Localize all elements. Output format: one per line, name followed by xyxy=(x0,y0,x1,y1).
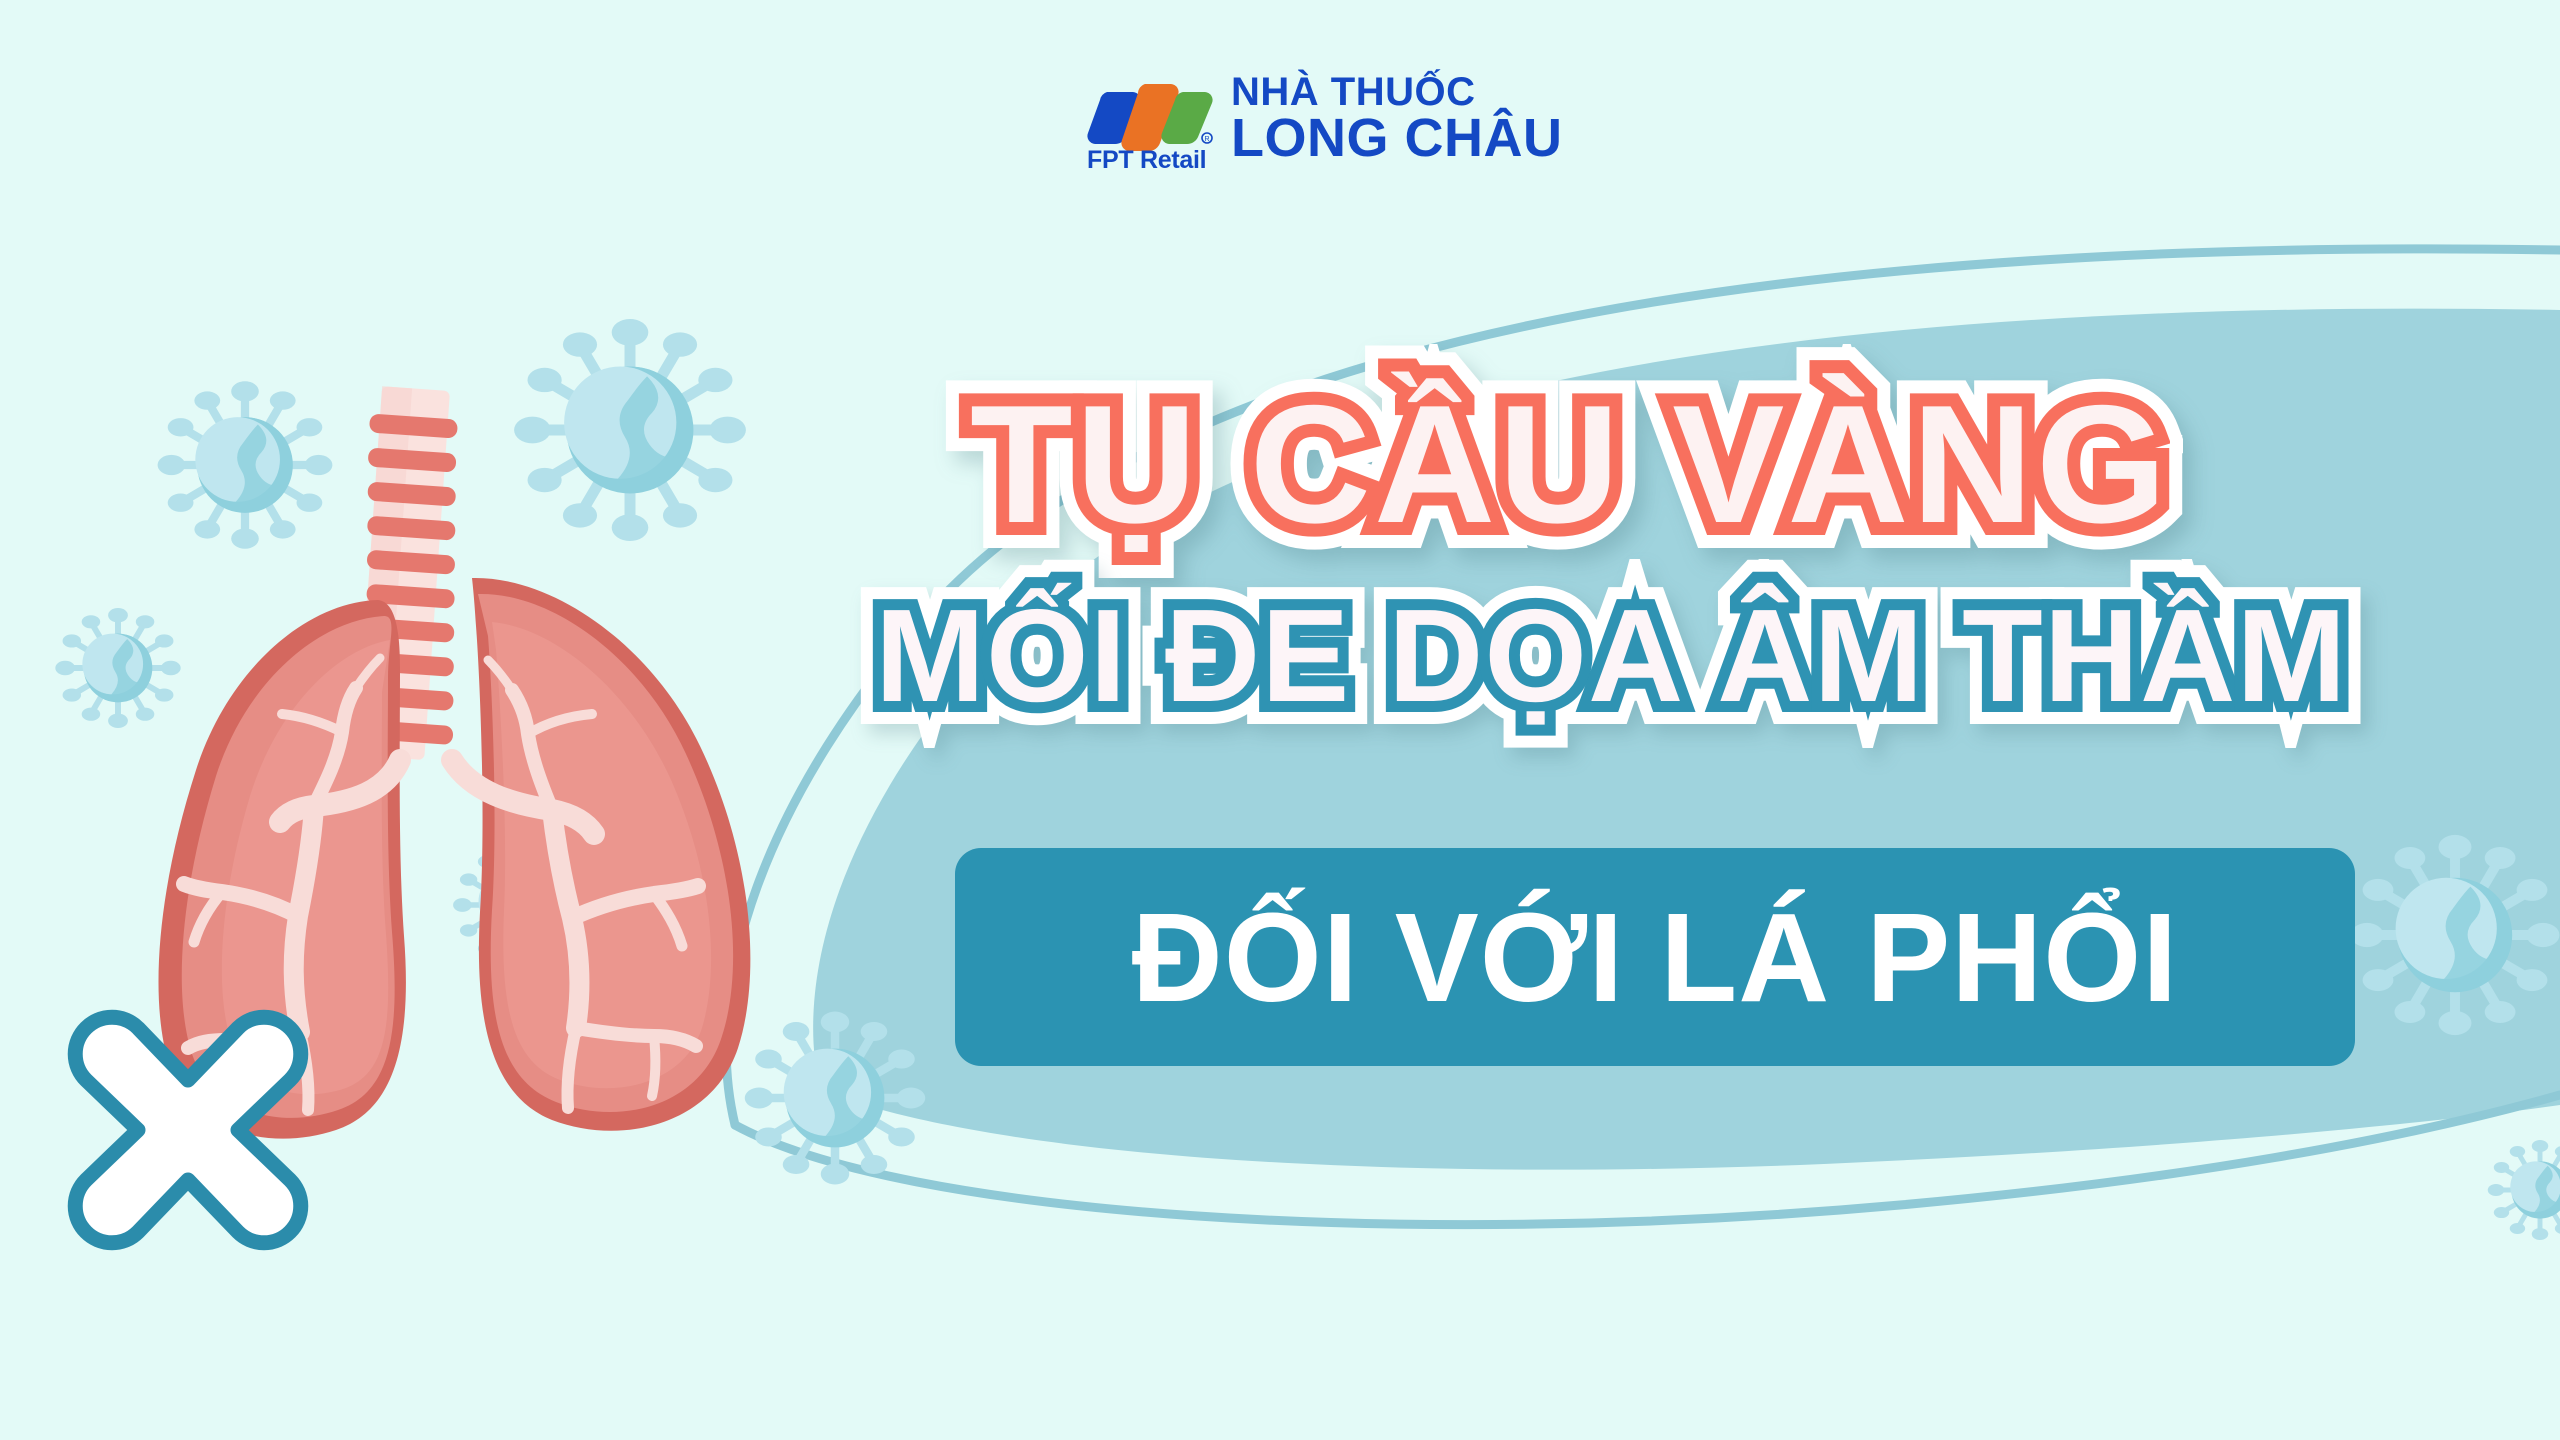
poster-canvas: R FPT Retail NHÀ THUỐC LONG CHÂU TỤ CẦU … xyxy=(0,0,2560,1440)
logo-sub-label: FPT Retail xyxy=(1087,146,1206,175)
headline-line-3: ĐỐI VỚI LÁ PHỔI xyxy=(955,848,2355,1066)
x-cross-icon xyxy=(58,1000,318,1260)
brand-line-1: NHÀ THUỐC xyxy=(1231,73,1562,112)
brand-logo[interactable]: R FPT Retail NHÀ THUỐC LONG CHÂU xyxy=(1085,68,1562,176)
fpt-retail-logo-mark: R FPT Retail xyxy=(1085,68,1213,176)
headline-line-1: TỤ CẦU VÀNG xyxy=(970,380,2170,548)
headline-block: TỤ CẦU VÀNG TỤ CẦU VÀNG MỐI ĐE DỌA ÂM TH… xyxy=(900,380,2460,1080)
virus-particle xyxy=(2488,1140,2560,1240)
svg-text:R: R xyxy=(1204,136,1209,143)
headline-line-2: MỐI ĐE DỌA ÂM THẦM xyxy=(875,590,2347,722)
brand-line-2: LONG CHÂU xyxy=(1231,112,1562,164)
brand-wordmark: NHÀ THUỐC LONG CHÂU xyxy=(1231,73,1562,164)
lung-right-lobe xyxy=(472,578,750,1131)
